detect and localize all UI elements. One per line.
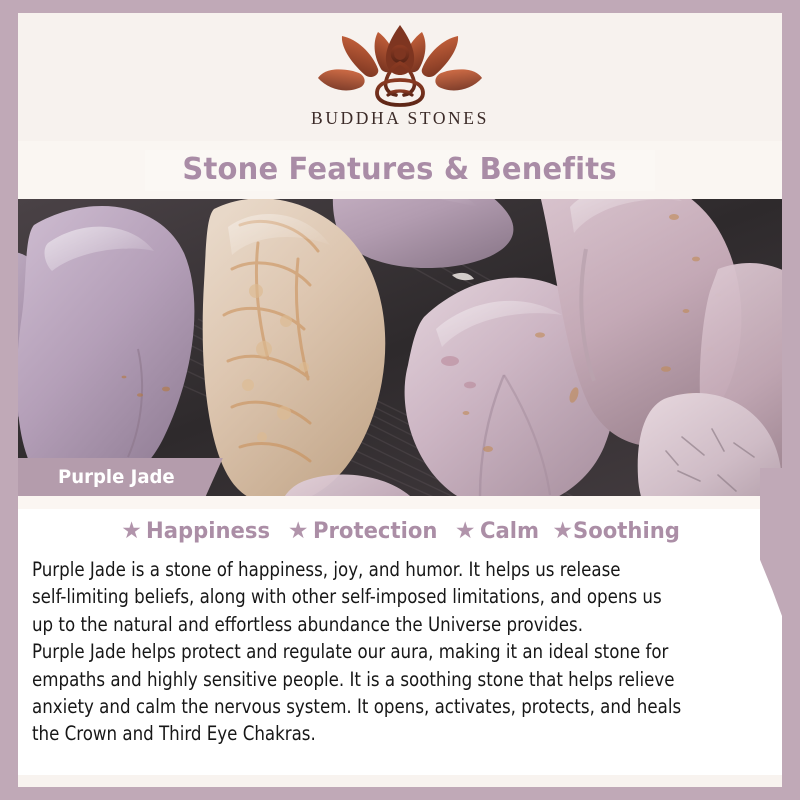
brand-header: BUDDHA STONES <box>18 13 782 141</box>
purple-jade-stones-photo: Purple Jade <box>18 199 782 496</box>
benefit-keyword-happiness: ★ Happiness <box>113 518 278 544</box>
lotus-meditation-icon <box>315 23 485 107</box>
description-line: up to the natural and effortless abundan… <box>32 611 737 638</box>
infographic-page: BUDDHA STONES Stone Features & Benefits <box>0 0 800 800</box>
description-line: Purple Jade helps protect and regulate o… <box>32 638 737 665</box>
panel-top-spacer <box>18 496 782 509</box>
page-title: Stone Features & Benefits <box>183 152 617 187</box>
benefit-keyword-protection: ★ Protection <box>280 518 445 544</box>
description-line: the Crown and Third Eye Chakras. <box>32 720 737 747</box>
benefit-keyword-label: Soothing <box>573 518 680 544</box>
star-icon: ★ <box>455 519 476 542</box>
description-line: empaths and highly sensitive people. It … <box>32 666 737 693</box>
description-line: anxiety and calm the nervous system. It … <box>32 693 737 720</box>
brand-wordmark: BUDDHA STONES <box>311 108 489 129</box>
panel-bottom-spacer <box>18 775 782 787</box>
description-line: Purple Jade is a stone of happiness, joy… <box>32 556 737 583</box>
title-banner-inner: Stone Features & Benefits <box>145 150 654 191</box>
benefit-keyword-label: Calm <box>480 518 539 544</box>
description-line: self-limiting beliefs, along with other … <box>32 583 737 610</box>
star-icon: ★ <box>121 519 142 542</box>
star-icon: ★ <box>288 519 309 542</box>
benefit-keyword-row: ★ Happiness ★ Protection ★ Calm ★ Soothi… <box>18 509 782 551</box>
stone-name-label: Purple Jade <box>58 466 175 488</box>
title-banner: Stone Features & Benefits <box>18 141 782 199</box>
description-panel: ★ Happiness ★ Protection ★ Calm ★ Soothi… <box>18 496 782 787</box>
stone-name-ribbon: Purple Jade <box>18 458 223 496</box>
benefit-keyword-label: Protection <box>313 518 437 544</box>
benefit-keyword-calm: ★ Calm <box>447 518 542 544</box>
benefit-keyword-label: Happiness <box>146 518 270 544</box>
benefit-keyword-soothing: ★ Soothing <box>544 518 686 544</box>
content-card: BUDDHA STONES Stone Features & Benefits <box>18 13 782 787</box>
star-icon: ★ <box>552 519 573 542</box>
description-text: Purple Jade is a stone of happiness, joy… <box>18 551 782 748</box>
